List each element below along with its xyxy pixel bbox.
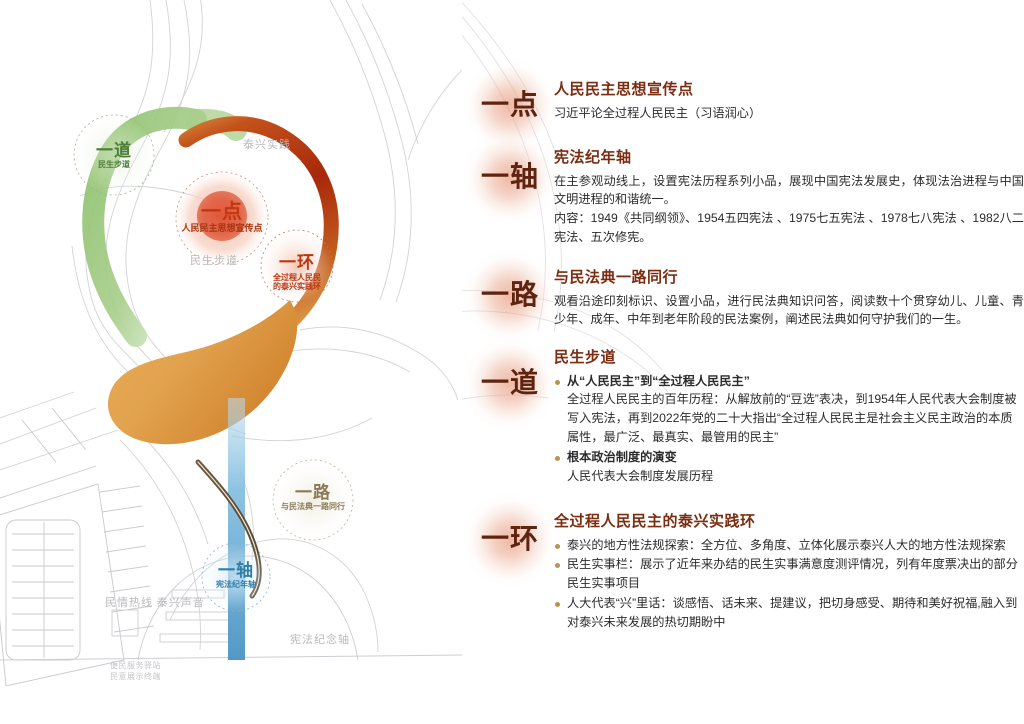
map-node-yilu[interactable]: 一路 与民法典一路同行 [263,484,363,511]
list-item: 根本政治制度的演变 人民代表大会制度发展历程 [554,448,1024,486]
section-yidian-title: 人民民主思想宣传点 [554,80,1024,100]
section-yilu-title: 与民法典一路同行 [554,268,1024,288]
section-yizhou-paragraph-2: 内容：1949《共同纲领》、1954五四宪法 、1975七五宪法 、1978七八… [554,209,1024,247]
list-item: 泰兴的地方性法规探索：全方位、多角度、立体化展示泰兴人大的地方性法规探索 [554,536,1024,555]
map-node-yilu-sub: 与民法典一路同行 [263,503,363,511]
badge-yihuan-label: 一环 [481,525,539,553]
map-label-constitution-monument-axis: 宪法纪念轴 [290,631,350,647]
section-yidian-paragraph-1: 习近平论全过程人民民主（习语润心） [554,104,1024,123]
section-yihuan-bullet-2-body: 民生实事栏：展示了近年来办结的民生实事满意度测评情况，列有年度票决出的部分民生实… [567,555,1024,593]
list-item: 民生实事栏：展示了近年来办结的民生实事满意度测评情况，列有年度票决出的部分民生实… [554,555,1024,593]
map-label-service-station: 便民服务驿站 [110,660,161,671]
map-node-yidao-title: 一道 [74,142,154,159]
map-node-yihuan-title: 一环 [252,254,342,271]
site-map-panel: 泰兴实践 民生步道 民情热线 泰兴声音 宪法纪念轴 便民服务驿站 民意展示终端 … [0,0,462,724]
section-yidao-bullet-2-body: 人民代表大会制度发展历程 [567,467,1024,486]
map-node-yizhou[interactable]: 一轴 宪法纪年轴 [196,562,276,589]
section-yidao-bullet-1-lead: 从“人民民主”到“全过程人民民主” [567,372,1024,391]
map-node-yidian-title: 一点 [152,202,292,222]
section-yihuan-bullet-1-body: 泰兴的地方性法规探索：全方位、多角度、立体化展示泰兴人大的地方性法规探索 [567,536,1024,555]
section-yizhou-body: 宪法纪年轴 在主参观动线上，设置宪法历程系列小品，展现中国宪法发展史，体现法治进… [554,148,1024,247]
poster-root: 泰兴实践 民生步道 民情热线 泰兴声音 宪法纪念轴 便民服务驿站 民意展示终端 … [0,0,1024,724]
site-map-drawing [0,0,462,724]
badge-yihuan[interactable]: 一环 [462,492,558,588]
map-node-yilu-title: 一路 [263,484,363,501]
section-yihuan-body: 全过程人民民主的泰兴实践环 泰兴的地方性法规探索：全方位、多角度、立体化展示泰兴… [554,512,1024,633]
section-yilu-body: 与民法典一路同行 观看沿途印刻标识、设置小品，进行民法典知识问答，阅读数十个贯穿… [554,268,1024,329]
map-node-yihuan-sub-line1: 全过程人民民 [252,273,342,282]
map-node-yizhou-title: 一轴 [196,562,276,579]
badge-yilu[interactable]: 一路 [462,248,558,344]
map-node-yihuan-sub-line2: 的泰兴实践环 [252,282,342,291]
section-yihuan-title: 全过程人民民主的泰兴实践环 [554,512,1024,532]
section-yizhou-paragraph-1: 在主参观动线上，设置宪法历程系列小品，展现中国宪法发展史，体现法治进程与中国文明… [554,172,1024,210]
map-node-yidian-sub: 人民民主思想宣传点 [152,224,292,233]
section-yidao-bullet-list: 从“人民民主”到“全过程人民民主” 全过程人民民主的百年历程：从解放前的“豆选”… [554,372,1024,486]
map-label-taixing-practice: 泰兴实践 [243,136,291,152]
section-yidao-bullet-1-body: 全过程人民民主的百年历程：从解放前的“豆选”表决，到1954年人民代表大会制度被… [567,390,1024,447]
section-yidao-bullet-2-lead: 根本政治制度的演变 [567,448,1024,467]
section-yidian-body: 人民民主思想宣传点 习近平论全过程人民民主（习语润心） [554,80,1024,122]
section-yizhou-title: 宪法纪年轴 [554,148,1024,168]
badge-yizhou-label: 一轴 [481,163,539,191]
map-node-yihuan[interactable]: 一环 全过程人民民 的泰兴实践环 [252,254,342,291]
badge-yidao[interactable]: 一道 [462,336,558,432]
map-node-yidian[interactable]: 一点 人民民主思想宣传点 [152,202,292,233]
section-yidao-body: 民生步道 从“人民民主”到“全过程人民民主” 全过程人民民主的百年历程：从解放前… [554,348,1024,487]
badge-yidao-label: 一道 [481,369,539,397]
section-yihuan-bullet-3-body: 人大代表“兴”里话：谈感悟、话未来、提建议，把切身感受、期待和美好祝福,融入到对… [567,594,1024,632]
section-yilu-paragraph-1: 观看沿途印刻标识、设置小品，进行民法典知识问答，阅读数十个贯穿幼儿、儿童、青少年… [554,292,1024,330]
badge-yidian-label: 一点 [481,91,539,119]
map-node-yidao-sub: 民生步道 [74,161,154,169]
map-label-livelihood-walkway: 民生步道 [190,252,238,268]
map-label-hotline-voice: 民情热线 泰兴声音 [105,594,205,610]
badge-yizhou[interactable]: 一轴 [462,130,558,226]
list-item: 从“人民民主”到“全过程人民民主” 全过程人民民主的百年历程：从解放前的“豆选”… [554,372,1024,448]
section-yidao-title: 民生步道 [554,348,1024,368]
badge-yilu-label: 一路 [481,281,539,309]
section-yihuan-bullet-list: 泰兴的地方性法规探索：全方位、多角度、立体化展示泰兴人大的地方性法规探索 民生实… [554,536,1024,633]
list-item: 人大代表“兴”里话：谈感悟、话未来、提建议，把切身感受、期待和美好祝福,融入到对… [554,594,1024,632]
map-label-opinion-terminal: 民意展示终端 [110,671,161,682]
map-node-yidao[interactable]: 一道 民生步道 [74,142,154,169]
content-column: 一点 人民民主思想宣传点 习近平论全过程人民民主（习语润心） 一轴 宪法纪年轴 … [462,0,1024,724]
map-node-yizhou-sub: 宪法纪年轴 [196,581,276,589]
